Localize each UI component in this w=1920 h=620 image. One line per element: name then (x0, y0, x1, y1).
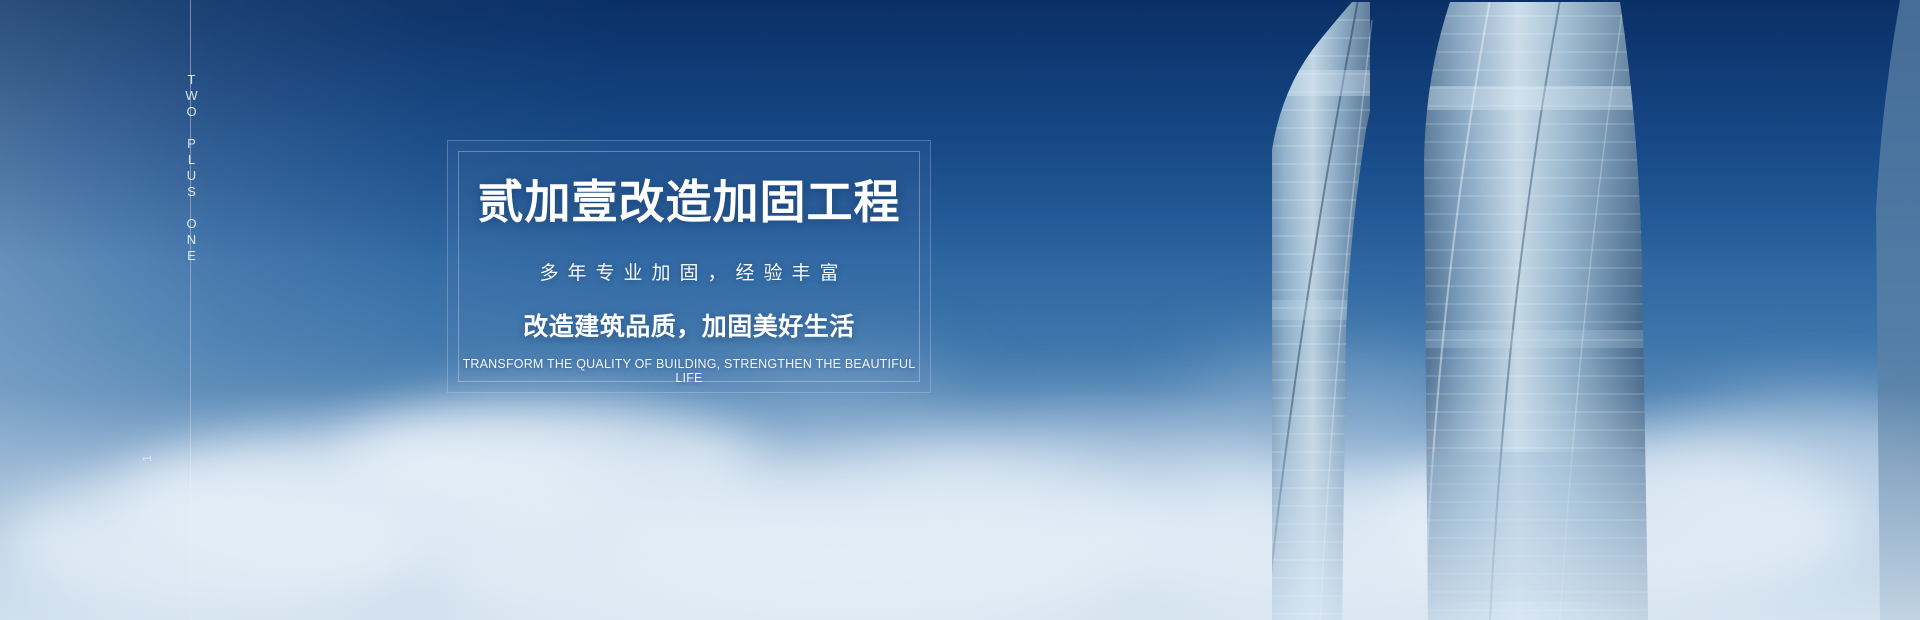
subtitle: 多年专业加固，经验丰富 (448, 258, 930, 285)
tagline: 改造建筑品质，加固美好生活 (448, 307, 930, 343)
side-vertical-label: TWO PLUS ONE (172, 72, 206, 264)
bottom-haze (0, 390, 1920, 620)
page-title: 贰加壹改造加固工程 (448, 177, 930, 228)
hero-text-panel: 贰加壹改造加固工程 多年专业加固，经验丰富 改造建筑品质，加固美好生活 TRAN… (447, 140, 931, 393)
side-index-number: 1 (140, 455, 154, 462)
hero-banner: TWO PLUS ONE 1 贰加壹改造加固工程 多年专业加固，经验丰富 改造建… (0, 0, 1920, 620)
panel-content: 贰加壹改造加固工程 多年专业加固，经验丰富 改造建筑品质，加固美好生活 TRAN… (448, 177, 930, 385)
english-tagline: TRANSFORM THE QUALITY OF BUILDING, STREN… (448, 357, 930, 385)
